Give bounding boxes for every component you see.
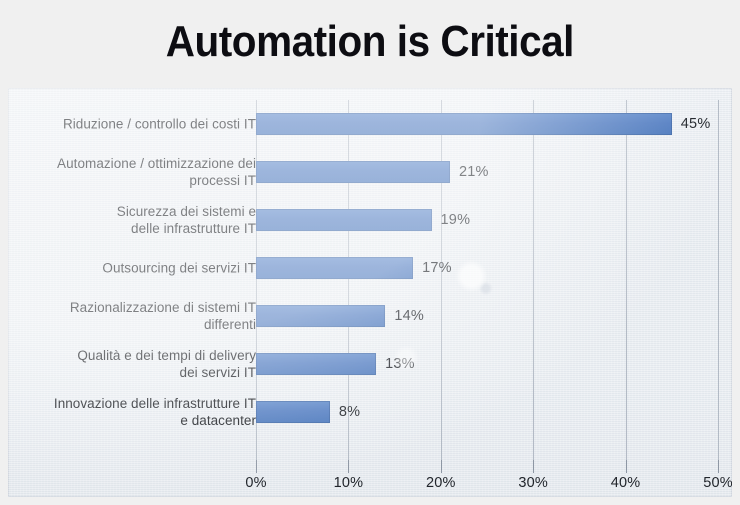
x-axis-tick-label: 50% [688,475,732,491]
bar-chart: 0%10%20%30%40%50%Riduzione / controllo d… [8,88,732,497]
bar[interactable] [256,113,672,135]
bar-value-label: 13% [385,356,415,372]
x-axis-tick-label: 30% [503,475,563,491]
x-axis-tick-label: 20% [411,475,471,491]
bar-value-label: 14% [394,308,424,324]
category-label: Innovazione delle infrastrutture ITe dat… [8,395,256,429]
bar-value-label: 19% [441,212,471,228]
slide-title-band: Automation is Critical [0,0,740,88]
bar[interactable] [256,353,376,375]
x-axis-tick [441,460,442,473]
bar-value-label: 21% [459,164,489,180]
category-label: Riduzione / controllo dei costi IT [8,116,256,133]
x-axis-tick [626,460,627,473]
chart-row: Innovazione delle infrastrutture ITe dat… [8,388,732,436]
chart-row: Razionalizzazione di sistemi ITdifferent… [8,292,732,340]
x-axis-tick [718,460,719,473]
category-label: Qualità e dei tempi di deliverydei servi… [8,347,256,381]
chart-row: Riduzione / controllo dei costi IT45% [8,100,732,148]
bar[interactable] [256,161,450,183]
x-axis-tick [348,460,349,473]
bar[interactable] [256,305,385,327]
page-title: Automation is Critical [166,20,574,64]
bar[interactable] [256,209,432,231]
bar-value-label: 17% [422,260,452,276]
bar[interactable] [256,401,330,423]
category-label: Outsourcing dei servizi IT [8,260,256,277]
category-label: Razionalizzazione di sistemi ITdifferent… [8,299,256,333]
x-axis-tick-label: 10% [318,475,378,491]
chart-row: Outsourcing dei servizi IT17% [8,244,732,292]
bar-value-label: 8% [339,404,360,420]
category-label: Automazione / ottimizzazione deiprocessi… [8,155,256,189]
x-axis-tick-label: 0% [226,475,286,491]
chart-row: Sicurezza dei sistemi edelle infrastrutt… [8,196,732,244]
bar[interactable] [256,257,413,279]
x-axis-tick [533,460,534,473]
chart-card: 0%10%20%30%40%50%Riduzione / controllo d… [8,88,732,497]
x-axis-tick [256,460,257,473]
bar-value-label: 45% [681,116,711,132]
category-label: Sicurezza dei sistemi edelle infrastrutt… [8,203,256,237]
x-axis-tick-label: 40% [596,475,656,491]
chart-row: Qualità e dei tempi di deliverydei servi… [8,340,732,388]
chart-row: Automazione / ottimizzazione deiprocessi… [8,148,732,196]
